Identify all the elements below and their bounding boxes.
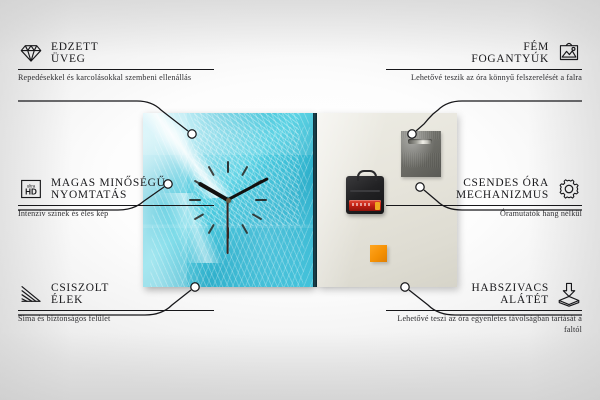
- feature-title: FÉM FOGANTYÚK: [471, 41, 549, 65]
- feature-divider: [386, 310, 582, 311]
- metal-hanger-plate: [401, 131, 441, 177]
- feature-header: ultra HD MAGAS MINŐSÉGŰ NYOMTATÁS: [18, 176, 228, 202]
- feature-divider: [18, 310, 214, 311]
- feature-title-line1: CSISZOLT: [51, 282, 109, 294]
- polished-edges-icon: [18, 281, 44, 307]
- feature-title-line1: CSENDES ÓRA: [463, 177, 549, 189]
- picture-hanger-icon: [556, 40, 582, 66]
- feature-header: EDZETT ÜVEG: [18, 40, 228, 66]
- hanger-slot: [408, 139, 432, 144]
- infographic-canvas: EDZETT ÜVEG Repedésekkel és karcolásokka…: [0, 0, 600, 400]
- feature-tempered-glass: EDZETT ÜVEG Repedésekkel és karcolásokka…: [18, 40, 228, 84]
- svg-text:HD: HD: [25, 188, 37, 197]
- feature-header: FÉM FOGANTYÚK: [372, 40, 582, 66]
- feature-header: HABSZIVACS ALÁTÉT: [372, 281, 582, 307]
- feature-description: Sima és biztonságos felület: [18, 314, 214, 325]
- feature-title-line2: ÉLEK: [51, 294, 109, 306]
- feature-foam-pad: HABSZIVACS ALÁTÉT Lehetővé teszi az óra …: [372, 281, 582, 335]
- feature-metal-handles: FÉM FOGANTYÚK Lehetővé teszik az óra kön…: [372, 40, 582, 84]
- feature-title: MAGAS MINŐSÉGŰ NYOMTATÁS: [51, 177, 166, 201]
- foam-pad-icon: [556, 281, 582, 307]
- feature-title-line1: EDZETT: [51, 41, 99, 53]
- feature-title-line2: NYOMTATÁS: [51, 189, 166, 201]
- feature-divider: [386, 69, 582, 70]
- feature-title: CSISZOLT ÉLEK: [51, 282, 109, 306]
- feature-silent-clock-mechanism: CSENDES ÓRA MECHANIZMUS Óramutatók hang …: [372, 176, 582, 220]
- feature-description: Repedésekkel és karcolásokkal szembeni e…: [18, 73, 214, 84]
- feature-title-line1: MAGAS MINŐSÉGŰ: [51, 177, 166, 189]
- diamond-icon: [18, 40, 44, 66]
- feature-divider: [18, 69, 214, 70]
- feature-title-line2: ALÁTÉT: [500, 294, 549, 306]
- ultra-hd-icon: ultra HD: [18, 176, 44, 202]
- battery-label: [352, 203, 372, 206]
- feature-description: Lehetővé teszi az óra egyenletes távolsá…: [386, 314, 582, 336]
- feature-header: CSISZOLT ÉLEK: [18, 281, 228, 307]
- feature-title: CSENDES ÓRA MECHANIZMUS: [456, 177, 549, 201]
- gear-icon: [556, 176, 582, 202]
- feature-title-line1: FÉM: [523, 41, 549, 53]
- feature-title: EDZETT ÜVEG: [51, 41, 99, 65]
- feature-divider: [18, 205, 214, 206]
- feature-title-line2: MECHANIZMUS: [456, 189, 549, 201]
- feature-title-line2: FOGANTYÚK: [471, 53, 549, 65]
- feature-description: Óramutatók hang nélkül: [386, 209, 582, 220]
- feature-title: HABSZIVACS ALÁTÉT: [471, 282, 549, 306]
- feature-header: CSENDES ÓRA MECHANIZMUS: [372, 176, 582, 202]
- feature-description: Intenzív színek és éles kép: [18, 209, 214, 220]
- feature-divider: [386, 205, 582, 206]
- feature-polished-edges: CSISZOLT ÉLEK Sima és biztonságos felüle…: [18, 281, 228, 325]
- feature-title-line2: ÜVEG: [51, 53, 99, 65]
- feature-description: Lehetővé teszik az óra könnyű felszerelé…: [386, 73, 582, 84]
- feature-title-line1: HABSZIVACS: [471, 282, 549, 294]
- foam-pad: [370, 245, 387, 262]
- feature-high-quality-print: ultra HD MAGAS MINŐSÉGŰ NYOMTATÁS Intenz…: [18, 176, 228, 220]
